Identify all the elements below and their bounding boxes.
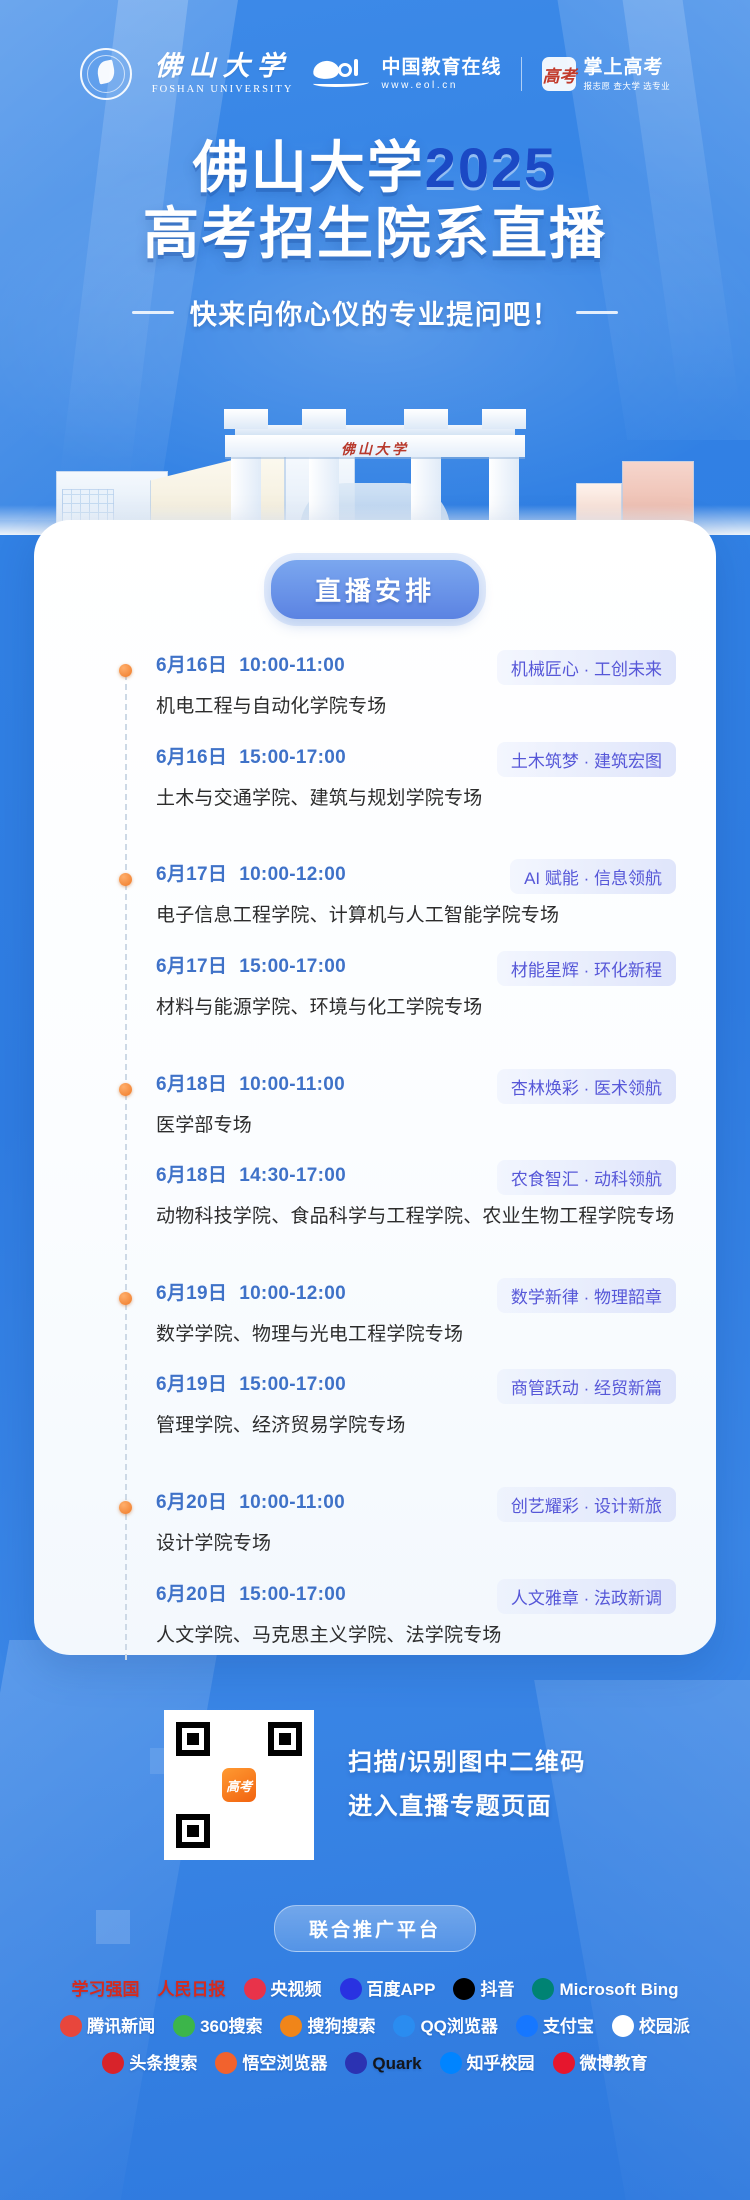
partner-name: 支付宝 [543, 2018, 594, 2035]
session-description: 土木与交通学院、建筑与规划学院专场 [156, 786, 676, 812]
partner-logo[interactable]: 360搜索 [173, 2015, 262, 2037]
session-description: 数学学院、物理与光电工程学院专场 [156, 1322, 676, 1348]
session-description: 材料与能源学院、环境与化工学院专场 [156, 995, 676, 1021]
eol-logo-icon [313, 59, 373, 89]
partner-name: QQ浏览器 [420, 2018, 497, 2035]
session-header: 6月20日10:00-11:00创艺耀彩 · 设计新旅 [156, 1487, 676, 1522]
360-search-icon [173, 2015, 195, 2037]
partner-name: 校园派 [639, 2018, 690, 2035]
hero-subtitle-row: 快来向你心仪的专业提问吧！ [0, 293, 750, 332]
schedule-day: 6月17日10:00-12:00AI 赋能 · 信息领航电子信息工程学院、计算机… [110, 859, 676, 1020]
session-tag: 人文雅章 · 法政新调 [497, 1579, 676, 1614]
session-datetime: 6月16日15:00-17:00 [156, 742, 346, 769]
session-datetime: 6月16日10:00-11:00 [156, 650, 345, 677]
schedule-session[interactable]: 6月16日10:00-11:00机械匠心 · 工创未来机电工程与自动化学院专场 [110, 650, 676, 720]
eol-logo: 中国教育在线 www.eol.cn [313, 58, 501, 91]
partner-name: 360搜索 [200, 2018, 262, 2035]
hero-title-line1: 佛山大学2025 [0, 135, 750, 201]
session-date: 6月16日 [156, 747, 227, 768]
session-tag: 土木筑梦 · 建筑宏图 [497, 742, 676, 777]
eol-url: www.eol.cn [381, 81, 501, 91]
partner-name: 央视频 [271, 1981, 322, 1998]
baidu-icon [340, 1978, 362, 2000]
schedule-session[interactable]: 6月20日10:00-11:00创艺耀彩 · 设计新旅设计学院专场 [110, 1487, 676, 1557]
session-header: 6月18日10:00-11:00杏林焕彩 · 医术领航 [156, 1069, 676, 1104]
hero-title-year: 2025 [425, 136, 558, 199]
session-tag: 材能星辉 · 环化新程 [497, 951, 676, 986]
dash-left-icon [132, 311, 174, 314]
session-date: 6月20日 [156, 1584, 227, 1605]
partner-logo[interactable]: QQ浏览器 [393, 2015, 497, 2037]
campus-illustration: 佛山大学 [0, 400, 750, 535]
partner-logo[interactable]: Quark [345, 2052, 421, 2074]
session-time: 15:00-17:00 [239, 1584, 346, 1605]
wukong-browser-icon [215, 2052, 237, 2074]
partner-logo[interactable]: 搜狗搜索 [280, 2015, 375, 2037]
qr-instruction-line-2: 进入直播专题页面 [348, 1785, 586, 1829]
partner-logo[interactable]: 人民日报 [158, 1981, 226, 1998]
schedule-day-gap [110, 1043, 676, 1069]
hero-subtitle: 快来向你心仪的专业提问吧！ [190, 293, 561, 332]
schedule-badge: 直播安排 [271, 560, 479, 619]
partner-logo[interactable]: 腾讯新闻 [60, 2015, 155, 2037]
partner-logo[interactable]: 知乎校园 [440, 2052, 535, 2074]
session-datetime: 6月19日15:00-17:00 [156, 1369, 346, 1396]
schedule-session[interactable]: 6月17日10:00-12:00AI 赋能 · 信息领航电子信息工程学院、计算机… [110, 859, 676, 929]
gaokao-logo: 高考 掌上高考 报志愿 查大学 选专业 [542, 57, 670, 91]
schedule-timeline: 6月16日10:00-11:00机械匠心 · 工创未来机电工程与自动化学院专场6… [110, 650, 676, 1670]
schedule-day-gap [110, 1252, 676, 1278]
session-date: 6月18日 [156, 1074, 227, 1095]
gate-inscription: 佛山大学 [341, 439, 409, 459]
session-description: 设计学院专场 [156, 1531, 676, 1557]
schedule-session[interactable]: 6月20日15:00-17:00人文雅章 · 法政新调人文学院、马克思主义学院、… [110, 1579, 676, 1649]
qr-instruction-line-1: 扫描/识别图中二维码 [348, 1741, 586, 1785]
partner-logo[interactable]: 悟空浏览器 [215, 2052, 327, 2074]
session-time: 14:30-17:00 [239, 1165, 346, 1186]
schedule-session[interactable]: 6月18日10:00-11:00杏林焕彩 · 医术领航医学部专场 [110, 1069, 676, 1139]
partner-name: 微博教育 [580, 2055, 648, 2072]
partners-section: 联合推广平台 学习强国人民日报央视频百度APP抖音Microsoft Bing腾… [0, 1905, 750, 2089]
university-name-en: FOSHAN UNIVERSITY [152, 85, 294, 96]
session-time: 10:00-11:00 [239, 1074, 345, 1095]
alipay-icon [516, 2015, 538, 2037]
partner-logo[interactable]: 支付宝 [516, 2015, 594, 2037]
hero-title-line2: 高考招生院系直播 [0, 201, 750, 267]
session-datetime: 6月18日10:00-11:00 [156, 1069, 345, 1096]
timeline-dot-icon [119, 664, 132, 677]
qr-finder-top-right [268, 1722, 302, 1756]
gaokao-name-cn: 掌上高考 [583, 58, 670, 77]
zhihu-icon [440, 2052, 462, 2074]
partner-logo[interactable]: 百度APP [340, 1978, 436, 2000]
session-header: 6月16日15:00-17:00土木筑梦 · 建筑宏图 [156, 742, 676, 777]
partner-name: Quark [372, 2055, 421, 2072]
partner-name: 学习强国 [72, 1981, 140, 1998]
partner-name: 悟空浏览器 [242, 2055, 327, 2072]
session-description: 机电工程与自动化学院专场 [156, 694, 676, 720]
sogou-icon [280, 2015, 302, 2037]
session-datetime: 6月17日10:00-12:00 [156, 859, 346, 886]
schedule-day-gap [110, 1461, 676, 1487]
eol-name-cn: 中国教育在线 [381, 58, 501, 77]
schedule-session[interactable]: 6月17日15:00-17:00材能星辉 · 环化新程材料与能源学院、环境与化工… [110, 951, 676, 1021]
session-header: 6月16日10:00-11:00机械匠心 · 工创未来 [156, 650, 676, 685]
session-date: 6月18日 [156, 1165, 227, 1186]
session-time: 15:00-17:00 [239, 1374, 346, 1395]
session-tag: 商管跃动 · 经贸新篇 [497, 1369, 676, 1404]
session-tag: 机械匠心 · 工创未来 [497, 650, 676, 685]
toutiao-search-icon [102, 2052, 124, 2074]
schedule-day: 6月19日10:00-12:00数学新律 · 物理韶章数学学院、物理与光电工程学… [110, 1278, 676, 1439]
schedule-day: 6月18日10:00-11:00杏林焕彩 · 医术领航医学部专场6月18日14:… [110, 1069, 676, 1230]
session-tag: 杏林焕彩 · 医术领航 [497, 1069, 676, 1104]
session-header: 6月17日10:00-12:00AI 赋能 · 信息领航 [156, 859, 676, 894]
partner-name: 人民日报 [158, 1981, 226, 1998]
session-date: 6月19日 [156, 1283, 227, 1304]
tencent-news-icon [60, 2015, 82, 2037]
session-datetime: 6月20日10:00-11:00 [156, 1487, 345, 1514]
session-description: 电子信息工程学院、计算机与人工智能学院专场 [156, 903, 676, 929]
session-datetime: 6月17日15:00-17:00 [156, 951, 346, 978]
partner-logo[interactable]: 头条搜索 [102, 2052, 197, 2074]
timeline-dot-icon [119, 1083, 132, 1096]
session-time: 10:00-11:00 [239, 655, 345, 676]
session-date: 6月20日 [156, 1492, 227, 1513]
partners-row: 头条搜索悟空浏览器Quark知乎校园微博教育 [0, 2052, 750, 2074]
session-description: 医学部专场 [156, 1113, 676, 1139]
logo-bar: 佛山大学 FOSHAN UNIVERSITY 中国教育在线 www.eol.cn… [0, 48, 750, 100]
dash-right-icon [576, 311, 618, 314]
session-tag: AI 赋能 · 信息领航 [510, 859, 676, 894]
partner-logo[interactable]: Microsoft Bing [532, 1978, 678, 2000]
partners-row: 腾讯新闻360搜索搜狗搜索QQ浏览器支付宝校园派 [0, 2015, 750, 2037]
partner-name: 百度APP [367, 1981, 436, 1998]
session-datetime: 6月19日10:00-12:00 [156, 1278, 346, 1305]
session-date: 6月17日 [156, 864, 227, 885]
qr-center-logo: 高考 [222, 1768, 256, 1802]
poster-root: 佛山大学 FOSHAN UNIVERSITY 中国教育在线 www.eol.cn… [0, 0, 750, 2200]
schedule-session[interactable]: 6月19日15:00-17:00商管跃动 · 经贸新篇管理学院、经济贸易学院专场 [110, 1369, 676, 1439]
partner-logo[interactable]: 央视频 [244, 1978, 322, 2000]
yangshipin-icon [244, 1978, 266, 2000]
gaokao-subtitle: 报志愿 查大学 选专业 [583, 82, 670, 91]
partner-name: 搜狗搜索 [307, 2018, 375, 2035]
session-date: 6月19日 [156, 1374, 227, 1395]
qr-block: 高考 扫描/识别图中二维码 进入直播专题页面 [0, 1710, 750, 1860]
partner-name: 知乎校园 [467, 2055, 535, 2072]
partners-row: 学习强国人民日报央视频百度APP抖音Microsoft Bing [0, 1978, 750, 2000]
session-time: 10:00-11:00 [239, 1492, 345, 1513]
session-header: 6月17日15:00-17:00材能星辉 · 环化新程 [156, 951, 676, 986]
qr-code-icon[interactable]: 高考 [164, 1710, 314, 1860]
hero-headline: 佛山大学2025 高考招生院系直播 快来向你心仪的专业提问吧！ [0, 135, 750, 332]
partner-name: 抖音 [480, 1981, 514, 1998]
session-time: 10:00-12:00 [239, 864, 346, 885]
partner-name: 腾讯新闻 [87, 2018, 155, 2035]
partner-name: 头条搜索 [129, 2055, 197, 2072]
partner-logo[interactable]: 学习强国 [72, 1981, 140, 1998]
session-description: 人文学院、马克思主义学院、法学院专场 [156, 1623, 676, 1649]
schedule-session[interactable]: 6月16日15:00-17:00土木筑梦 · 建筑宏图土木与交通学院、建筑与规划… [110, 742, 676, 812]
session-datetime: 6月20日15:00-17:00 [156, 1579, 346, 1606]
douyin-icon [453, 1978, 475, 2000]
session-time: 15:00-17:00 [239, 747, 346, 768]
partner-logo[interactable]: 微博教育 [553, 2052, 648, 2074]
schedule-session[interactable]: 6月18日14:30-17:00农食智汇 · 动科领航动物科技学院、食品科学与工… [110, 1160, 676, 1230]
session-header: 6月18日14:30-17:00农食智汇 · 动科领航 [156, 1160, 676, 1195]
partner-name: Microsoft Bing [559, 1981, 678, 1998]
hero-title-main: 佛山大学 [193, 136, 425, 199]
gaokao-wordmark: 掌上高考 报志愿 查大学 选专业 [583, 58, 670, 91]
session-header: 6月19日15:00-17:00商管跃动 · 经贸新篇 [156, 1369, 676, 1404]
session-time: 15:00-17:00 [239, 956, 346, 977]
session-datetime: 6月18日14:30-17:00 [156, 1160, 346, 1187]
university-name-cn: 佛山大学 [155, 53, 291, 80]
schedule-card: 直播安排 6月16日10:00-11:00机械匠心 · 工创未来机电工程与自动化… [34, 520, 716, 1655]
weibo-icon [553, 2052, 575, 2074]
partner-logo[interactable]: 抖音 [453, 1978, 514, 2000]
schedule-day-gap [110, 833, 676, 859]
partner-logo[interactable]: 校园派 [612, 2015, 690, 2037]
timeline-dot-icon [119, 1292, 132, 1305]
quark-icon [345, 2052, 367, 2074]
qr-finder-top-left [176, 1722, 210, 1756]
eol-wordmark: 中国教育在线 www.eol.cn [381, 58, 501, 91]
gaokao-badge-icon: 高考 [542, 57, 576, 91]
bing-icon [532, 1978, 554, 2000]
session-date: 6月16日 [156, 655, 227, 676]
partners-badge: 联合推广平台 [274, 1905, 476, 1952]
foshan-university-wordmark: 佛山大学 FOSHAN UNIVERSITY [152, 53, 294, 96]
schedule-session[interactable]: 6月19日10:00-12:00数学新律 · 物理韶章数学学院、物理与光电工程学… [110, 1278, 676, 1348]
session-description: 动物科技学院、食品科学与工程学院、农业生物工程学院专场 [156, 1204, 676, 1230]
session-date: 6月17日 [156, 956, 227, 977]
session-description: 管理学院、经济贸易学院专场 [156, 1413, 676, 1439]
session-tag: 创艺耀彩 · 设计新旅 [497, 1487, 676, 1522]
session-tag: 数学新律 · 物理韶章 [497, 1278, 676, 1313]
qq-browser-icon [393, 2015, 415, 2037]
xiaoyuanpai-icon [612, 2015, 634, 2037]
schedule-day: 6月20日10:00-11:00创艺耀彩 · 设计新旅设计学院专场6月20日15… [110, 1487, 676, 1648]
foshan-university-crest-icon [80, 48, 132, 100]
session-tag: 农食智汇 · 动科领航 [497, 1160, 676, 1195]
session-time: 10:00-12:00 [239, 1283, 346, 1304]
session-header: 6月19日10:00-12:00数学新律 · 物理韶章 [156, 1278, 676, 1313]
session-header: 6月20日15:00-17:00人文雅章 · 法政新调 [156, 1579, 676, 1614]
logo-divider [521, 57, 522, 91]
qr-finder-bottom-left [176, 1814, 210, 1848]
schedule-day: 6月16日10:00-11:00机械匠心 · 工创未来机电工程与自动化学院专场6… [110, 650, 676, 811]
qr-instructions: 扫描/识别图中二维码 进入直播专题页面 [348, 1741, 586, 1830]
